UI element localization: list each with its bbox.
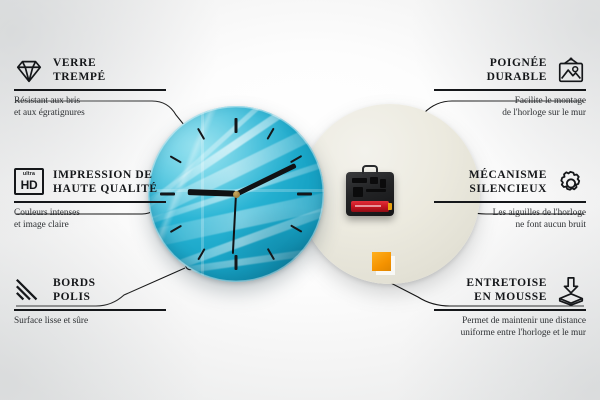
feature-divider	[434, 89, 586, 91]
hanger-loop-icon	[362, 165, 378, 174]
feature-bords-polis: BORDS POLIS Surface lisse et sûre	[14, 276, 166, 327]
movement-detail	[353, 187, 363, 197]
feature-title-line1: POIGNÉE	[487, 57, 547, 71]
feature-title-line2: HAUTE QUALITÉ	[53, 183, 158, 197]
ultra-hd-icon: ultra HD	[14, 168, 44, 198]
feature-title-line2: DURABLE	[487, 71, 547, 85]
feature-divider	[14, 309, 166, 311]
feature-title: BORDS POLIS	[53, 277, 96, 304]
feature-divider	[14, 89, 166, 91]
feature-desc-line2: et image claire	[14, 219, 166, 232]
feature-title-line1: MÉCANISME	[469, 169, 547, 183]
foam-spacer-icon	[556, 276, 586, 306]
feature-description: Couleurs intenses et image claire	[14, 207, 166, 232]
feature-description: Permet de maintenir une distance uniform…	[434, 315, 586, 340]
clock-hub	[233, 191, 240, 198]
feature-title-line1: BORDS	[53, 277, 96, 291]
feature-header: POIGNÉE DURABLE	[434, 56, 586, 89]
feature-divider	[14, 201, 166, 203]
battery-stripe	[355, 205, 381, 207]
gear-icon	[556, 168, 586, 198]
feature-title: MÉCANISME SILENCIEUX	[469, 169, 547, 196]
feature-verre-trempe: VERRE TREMPÉ Résistant aux bris et aux é…	[14, 56, 166, 120]
infographic-canvas: VERRE TREMPÉ Résistant aux bris et aux é…	[0, 0, 600, 400]
feature-desc-line1: Couleurs intenses	[14, 207, 166, 220]
feature-desc-line1: Surface lisse et sûre	[14, 315, 166, 328]
feature-header: ENTRETOISE EN MOUSSE	[434, 276, 586, 309]
feature-header: BORDS POLIS	[14, 276, 166, 309]
foam-spacer-pad	[372, 252, 391, 271]
feature-title: ENTRETOISE EN MOUSSE	[466, 277, 547, 304]
movement-detail	[380, 179, 386, 188]
feature-title-line2: SILENCIEUX	[469, 183, 547, 197]
hour-tick	[297, 193, 312, 196]
movement-detail	[352, 178, 367, 183]
feature-header: ultra HD IMPRESSION DE HAUTE QUALITÉ	[14, 168, 166, 201]
ultra-hd-icon-main-text: HD	[21, 179, 38, 191]
feature-mecanisme-silencieux: MÉCANISME SILENCIEUX Les aiguilles de l'…	[434, 168, 586, 232]
feature-title-line2: EN MOUSSE	[466, 291, 547, 305]
aa-battery	[351, 201, 389, 212]
feature-title-line2: POLIS	[53, 291, 96, 305]
ultra-hd-icon-top-text: ultra	[23, 172, 35, 177]
feature-desc-line2: de l'horloge sur le mur	[434, 107, 586, 120]
feature-desc-line1: Facilite le montage	[434, 95, 586, 108]
feature-impression-haute-qualite: ultra HD IMPRESSION DE HAUTE QUALITÉ Cou…	[14, 168, 166, 232]
clock-movement	[346, 172, 394, 216]
feature-divider	[434, 201, 586, 203]
feature-title: POIGNÉE DURABLE	[487, 57, 547, 84]
feature-desc-line2: ne font aucun bruit	[434, 219, 586, 232]
feature-title-line1: VERRE	[53, 57, 106, 71]
feature-description: Facilite le montage de l'horloge sur le …	[434, 95, 586, 120]
feature-desc-line1: Permet de maintenir une distance	[434, 315, 586, 328]
feature-title-line2: TREMPÉ	[53, 71, 106, 85]
hour-tick	[235, 118, 238, 133]
diamond-icon	[14, 56, 44, 86]
feature-divider	[434, 309, 586, 311]
feature-title-line1: ENTRETOISE	[466, 277, 547, 291]
feature-title: VERRE TREMPÉ	[53, 57, 106, 84]
feature-description: Résistant aux bris et aux égratignures	[14, 95, 166, 120]
polished-edges-icon	[14, 276, 44, 306]
hour-tick	[235, 255, 238, 270]
feature-entretoise-en-mousse: ENTRETOISE EN MOUSSE Permet de maintenir…	[434, 276, 586, 340]
feature-desc-line1: Résistant aux bris	[14, 95, 166, 108]
feature-poignee-durable: POIGNÉE DURABLE Facilite le montage de l…	[434, 56, 586, 120]
feature-desc-line2: et aux égratignures	[14, 107, 166, 120]
feature-desc-line1: Les aiguilles de l'horloge	[434, 207, 586, 220]
feature-title-line1: IMPRESSION DE	[53, 169, 158, 183]
feature-header: VERRE TREMPÉ	[14, 56, 166, 89]
clock-front-face	[148, 106, 324, 282]
hanging-frame-icon	[556, 56, 586, 86]
feature-header: MÉCANISME SILENCIEUX	[434, 168, 586, 201]
movement-detail	[366, 189, 386, 192]
feature-desc-line2: uniforme entre l'horloge et le mur	[434, 327, 586, 340]
movement-detail	[370, 177, 378, 184]
feature-description: Les aiguilles de l'horloge ne font aucun…	[434, 207, 586, 232]
feature-description: Surface lisse et sûre	[14, 315, 166, 328]
feature-title: IMPRESSION DE HAUTE QUALITÉ	[53, 169, 158, 196]
